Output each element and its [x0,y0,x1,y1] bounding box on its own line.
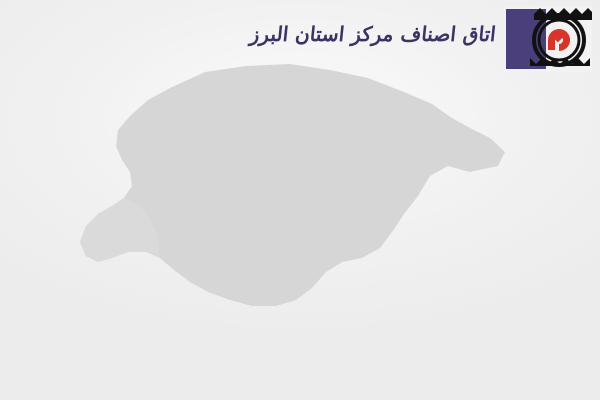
alborz-guild-chamber-logo [504,6,592,72]
page-title: اتاق اصناف مرکز استان البرز [249,22,497,46]
header: اتاق اصناف مرکز استان البرز [0,0,600,76]
infographic-canvas: اتاق اصناف مرکز استان البرز [0,0,600,400]
